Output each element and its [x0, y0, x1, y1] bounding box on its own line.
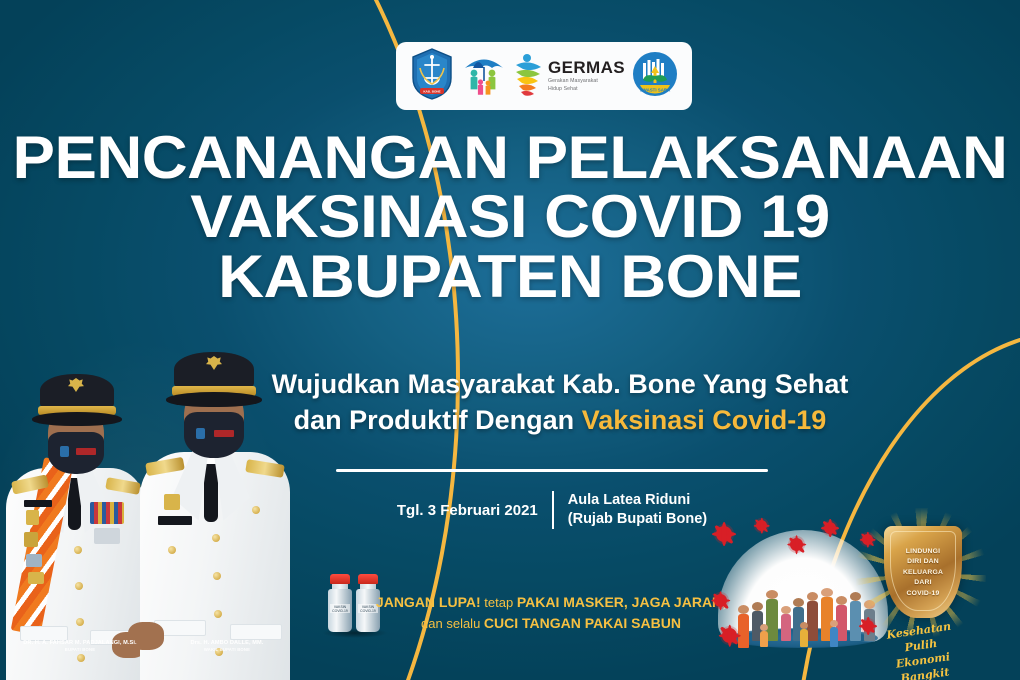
shield-line-3: KELUARGA [903, 568, 943, 579]
official-caption-bupati: DR. H. A. FAHSAR M. PADJALANGI, M.Si. BU… [12, 640, 148, 652]
vial-label-1: VAKSIN COVID-19 [330, 604, 350, 613]
event-details-bar: Tgl. 3 Februari 2021 Aula Latea Riduni (… [336, 487, 768, 533]
shield-line-5: COVID-19 [907, 589, 940, 600]
germas-mark-icon [514, 53, 544, 99]
official-wakil-bupati-figure [134, 334, 296, 680]
vaccine-vial-1: VAKSIN COVID-19 [328, 574, 352, 632]
health-protocol-slogan: JANGAN LUPA! tetap PAKAI MASKER, JAGA JA… [366, 592, 736, 634]
slogan-bold-3: CUCI TANGAN PAKAI SABUN [484, 615, 681, 631]
virus-particle-icon [790, 538, 803, 551]
svg-text:KAB. BONE: KAB. BONE [423, 89, 440, 93]
germas-subtitle: Gerakan Masyarakat Hidup Sehat [548, 78, 625, 92]
subtitle-highlight-text: Vaksinasi Covid-19 [582, 405, 827, 435]
slogan-light-1: tetap [481, 595, 517, 610]
official-role-2: WAKIL BUPATI BONE [162, 647, 292, 652]
germas-title: GERMAS [548, 59, 625, 76]
virus-particle-icon [722, 628, 737, 643]
family-umbrella-icon [461, 49, 507, 104]
kabupaten-bone-emblem-icon: KAB. BONE [410, 48, 454, 105]
vertical-separator [552, 491, 554, 529]
poster-headline: PENCANANGAN PELAKSANAAN VAKSINASI COVID … [0, 128, 1020, 306]
slogan-line-1: JANGAN LUPA! tetap PAKAI MASKER, JAGA JA… [366, 592, 736, 613]
crowd-person [781, 606, 791, 642]
swasti-saba-logo-icon: SWASTI SABA [632, 51, 678, 102]
slogan-bold-1: JANGAN LUPA! [376, 594, 481, 610]
official-role-1: BUPATI BONE [12, 647, 148, 652]
crowd-person [807, 592, 818, 642]
crowd-child [830, 620, 838, 648]
protection-shield-badge: LINDUNGI DIRI DAN KELUARGA DARI COVID-19… [862, 512, 980, 662]
event-date: Tgl. 3 Februari 2021 [397, 502, 538, 519]
virus-particle-icon [714, 594, 727, 607]
shield-text: LINDUNGI DIRI DAN KELUARGA DARI COVID-19 [890, 531, 956, 611]
headline-line-2: VAKSINASI COVID 19 [0, 187, 1020, 246]
slogan-bold-2: PAKAI MASKER, JAGA JARAK, [517, 594, 726, 610]
venue-line-2: (Rujab Bupati Bone) [568, 510, 707, 529]
horizontal-divider [336, 469, 768, 472]
headline-line-3: KABUPATEN BONE [0, 247, 1020, 306]
virus-particle-icon [824, 522, 836, 534]
logo-strip: KAB. BONE [396, 42, 692, 110]
shield-line-4: DARI [914, 578, 931, 589]
slogan-light-2: dan selalu [421, 616, 484, 631]
official-name-1: DR. H. A. FAHSAR M. PADJALANGI, M.Si. [12, 640, 148, 646]
shield-line-2: DIRI DAN [907, 557, 939, 568]
subtitle-plain-text: dan Produktif Dengan [294, 405, 582, 435]
official-caption-wakil: Drs. H. AMBO DALLE, MM. WAKIL BUPATI BON… [162, 640, 292, 652]
official-name-2: Drs. H. AMBO DALLE, MM. [162, 640, 292, 646]
event-venue: Aula Latea Riduni (Rujab Bupati Bone) [568, 491, 707, 529]
shield-line-1: LINDUNGI [906, 547, 940, 558]
officials-photo: DR. H. A. FAHSAR M. PADJALANGI, M.Si. BU… [0, 318, 308, 680]
crowd-child [760, 624, 768, 648]
crowd-child [800, 622, 808, 648]
poster-canvas: KAB. BONE [0, 0, 1020, 680]
headline-line-1: PENCANANGAN PELAKSANAAN [0, 128, 1020, 187]
shield-shape: LINDUNGI DIRI DAN KELUARGA DARI COVID-19 [884, 526, 962, 618]
svg-text:SWASTI SABA: SWASTI SABA [640, 87, 671, 92]
slogan-line-2: dan selalu CUCI TANGAN PAKAI SABUN [366, 613, 736, 634]
virus-particle-icon [756, 520, 767, 531]
germas-logo: GERMAS Gerakan Masyarakat Hidup Sehat [514, 53, 625, 99]
virus-particle-icon [716, 526, 732, 542]
venue-line-1: Aula Latea Riduni [568, 491, 707, 510]
